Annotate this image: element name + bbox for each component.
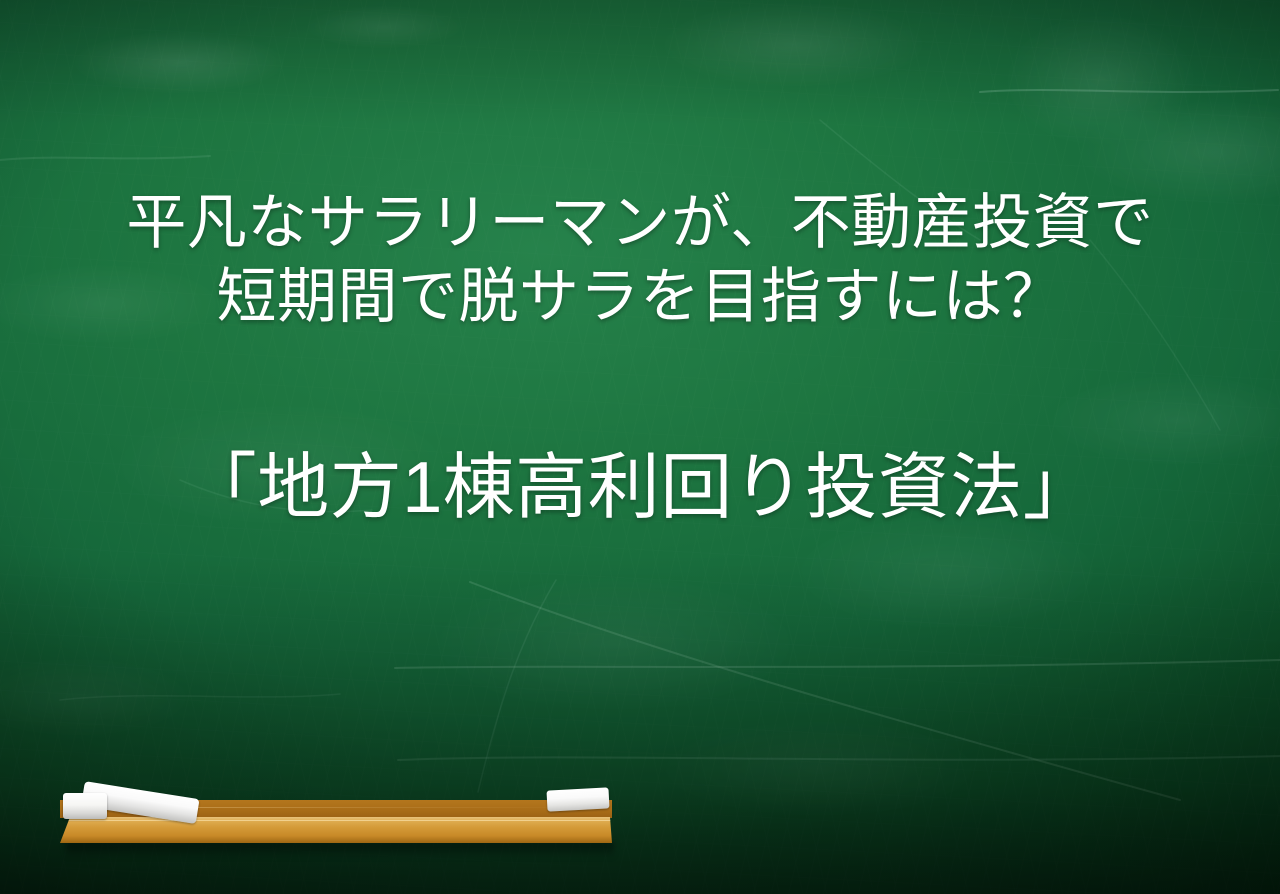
- chalk-stick-right: [546, 787, 609, 811]
- chalk-tray-front-face: [60, 817, 612, 843]
- headline-primary-line-2: 短期間で脱サラを目指すには？: [0, 260, 1280, 334]
- chalk-tray-shadow: [66, 842, 614, 858]
- headline-primary-line-1: 平凡なサラリーマンが、不動産投資で: [0, 186, 1280, 260]
- chalk-stick-short: [63, 793, 107, 819]
- headline-secondary-line-1: 「地方1棟高利回り投資法」: [0, 440, 1280, 536]
- headline-secondary: 「地方1棟高利回り投資法」: [0, 440, 1280, 536]
- headline-primary: 平凡なサラリーマンが、不動産投資で 短期間で脱サラを目指すには？: [0, 186, 1280, 334]
- chalkboard-slide: 平凡なサラリーマンが、不動産投資で 短期間で脱サラを目指すには？ 「地方1棟高利…: [0, 0, 1280, 894]
